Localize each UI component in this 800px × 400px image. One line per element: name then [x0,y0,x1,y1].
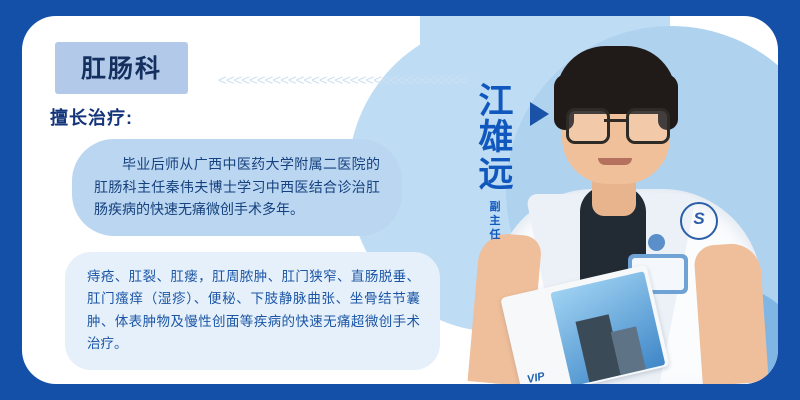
chevron-decoration: <<<<<<<<<<<<<<<<<<<<<<<<<<<<<<<<<<<<<<<<… [218,72,468,90]
doctor-name-char-1: 江 [474,84,518,120]
doctor-title-char-1: 副 [482,201,508,215]
eyeglasses-left-lens [566,108,610,144]
brochure-label: VIP [526,370,546,384]
play-triangle-icon [530,102,549,126]
doctor-name: 江 雄 远 [474,84,518,193]
doctor-mouth [598,158,632,165]
banner-card: S VIP 肛肠科 <<<<<<<<<<<<<<<<<<<<<<<<<<<<<<… [22,16,778,384]
doctor-title-char-2: 主 [482,215,508,229]
doctor-specialty-bubble: 痔疮、肛裂、肛瘘，肛周脓肿、肛门狭窄、直肠脱垂、肛门瘙痒（湿疹）、便秘、下肢静脉… [65,252,440,370]
eyeglasses-right-lens [626,108,670,144]
hospital-logo-icon: S [680,202,718,240]
brochure-cover [550,271,665,384]
doctor-photo: S VIP [452,16,778,384]
doctor-name-char-2: 雄 [474,120,518,156]
text-column: 肛肠科 <<<<<<<<<<<<<<<<<<<<<<<<<<<<<<<<<<<<… [22,16,472,384]
eyeglasses-bridge [604,119,626,122]
doctor-title-char-3: 任 [482,229,508,243]
section-subtitle: 擅长治疗: [50,104,133,130]
id-badge-reel-clip [648,234,665,251]
doctor-name-char-3: 远 [474,157,518,193]
doctor-bio-bubble: 毕业后师从广西中医药大学附属二医院的肛肠科主任秦伟夫博士学习中西医结合诊治肛肠疾… [72,139,402,236]
department-title-badge: 肛肠科 [55,42,188,94]
doctor-job-title: 副 主 任 [482,201,508,242]
doctor-profile-banner: S VIP 肛肠科 <<<<<<<<<<<<<<<<<<<<<<<<<<<<<<… [0,0,800,400]
doctor-arm-right [693,242,769,384]
